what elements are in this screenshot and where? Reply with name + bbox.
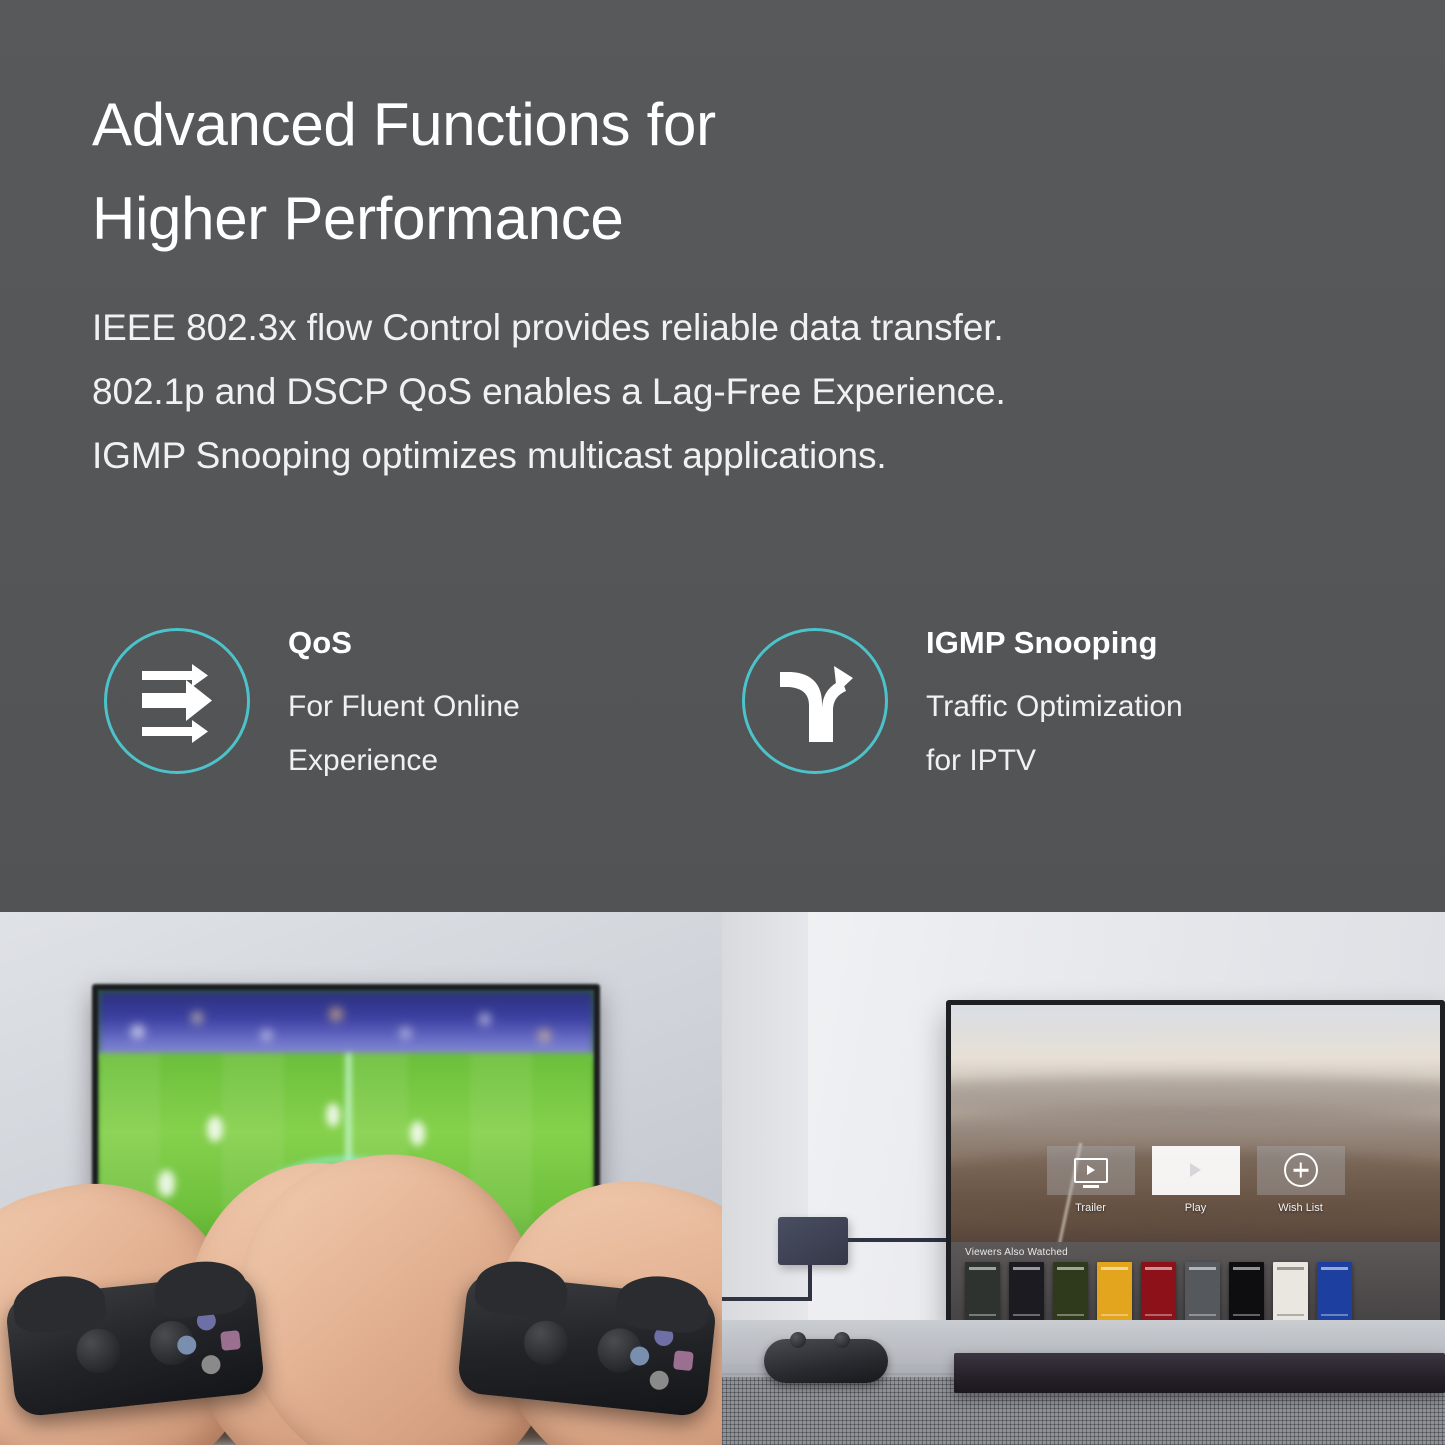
feature-qos: QoS For Fluent Online Experience: [104, 622, 520, 788]
tv-button-wish-list-label: Wish List: [1257, 1202, 1345, 1214]
headline-line-2: Higher Performance: [92, 172, 1192, 266]
console-game-controller: [764, 1339, 888, 1383]
tv-button-play[interactable]: Play: [1152, 1146, 1240, 1214]
soundbar: [954, 1353, 1445, 1393]
feature-igmp-desc-line-1: Traffic Optimization: [926, 680, 1183, 734]
poster-row: [965, 1262, 1434, 1321]
poster-item[interactable]: [1273, 1262, 1308, 1321]
poster-item[interactable]: [1229, 1262, 1264, 1321]
play-tile: [1152, 1146, 1240, 1195]
photo-strip: Trailer Play Wish List: [0, 912, 1445, 1445]
feature-qos-desc-line-2: Experience: [288, 734, 520, 788]
iptv-photo: Trailer Play Wish List: [722, 912, 1445, 1445]
feature-igmp-snooping: IGMP Snooping Traffic Optimization for I…: [742, 622, 1183, 788]
viewers-also-watched-shelf: Viewers Also Watched: [951, 1242, 1440, 1325]
wish-list-tile: [1257, 1146, 1345, 1195]
page-title: Advanced Functions for Higher Performanc…: [92, 78, 1192, 266]
promo-page: Advanced Functions for Higher Performanc…: [0, 0, 1445, 1445]
plus-circle-icon: [1284, 1153, 1318, 1187]
description-line-3: IGMP Snooping optimizes multicast applic…: [92, 424, 1372, 488]
poster-item[interactable]: [1009, 1262, 1044, 1321]
headline-line-1: Advanced Functions for: [92, 78, 1192, 172]
poster-item[interactable]: [1141, 1262, 1176, 1321]
play-icon: [1190, 1163, 1201, 1177]
feature-qos-title: QoS: [288, 624, 520, 662]
qos-icon-circle: [104, 628, 250, 774]
three-arrows-icon: [134, 658, 220, 744]
monitor-play-icon: [1074, 1158, 1108, 1183]
gaming-photo: [0, 912, 722, 1445]
poster-item[interactable]: [1053, 1262, 1088, 1321]
tv-button-trailer[interactable]: Trailer: [1047, 1146, 1135, 1214]
poster-item[interactable]: [1185, 1262, 1220, 1321]
adapter-cable-left: [722, 1297, 812, 1301]
adapter-cable-right: [848, 1238, 948, 1242]
poster-item[interactable]: [965, 1262, 1000, 1321]
description-line-1: IEEE 802.3x flow Control provides reliab…: [92, 296, 1372, 360]
tv-button-wish-list[interactable]: Wish List: [1257, 1146, 1345, 1214]
smart-tv-screen: Trailer Play Wish List: [951, 1005, 1440, 1325]
feature-igmp-desc-line-2: for IPTV: [926, 734, 1183, 788]
hero-panel: Advanced Functions for Higher Performanc…: [0, 0, 1445, 912]
adapter-cable-down: [808, 1265, 812, 1301]
igmp-icon-circle: [742, 628, 888, 774]
feature-qos-desc-line-1: For Fluent Online: [288, 680, 520, 734]
trailer-tile: [1047, 1146, 1135, 1195]
feature-igmp-title: IGMP Snooping: [926, 624, 1183, 662]
smart-tv: Trailer Play Wish List: [946, 1000, 1445, 1330]
feature-qos-text: QoS For Fluent Online Experience: [288, 622, 520, 788]
feature-igmp-desc: Traffic Optimization for IPTV: [926, 680, 1183, 788]
poster-item[interactable]: [1317, 1262, 1352, 1321]
network-adapter-device: [778, 1217, 848, 1265]
hero-description: IEEE 802.3x flow Control provides reliab…: [92, 296, 1372, 488]
tv-action-buttons: Trailer Play Wish List: [951, 1146, 1440, 1214]
feature-igmp-text: IGMP Snooping Traffic Optimization for I…: [926, 622, 1183, 788]
description-line-2: 802.1p and DSCP QoS enables a Lag-Free E…: [92, 360, 1372, 424]
shelf-title: Viewers Also Watched: [965, 1247, 1068, 1258]
stadium-crowd: [98, 990, 594, 1059]
tv-button-trailer-label: Trailer: [1047, 1202, 1135, 1214]
feature-list: QoS For Fluent Online Experience: [0, 622, 1445, 832]
fork-road-arrow-icon: [772, 658, 858, 744]
tv-button-play-label: Play: [1152, 1202, 1240, 1214]
poster-item[interactable]: [1097, 1262, 1132, 1321]
feature-qos-desc: For Fluent Online Experience: [288, 680, 520, 788]
